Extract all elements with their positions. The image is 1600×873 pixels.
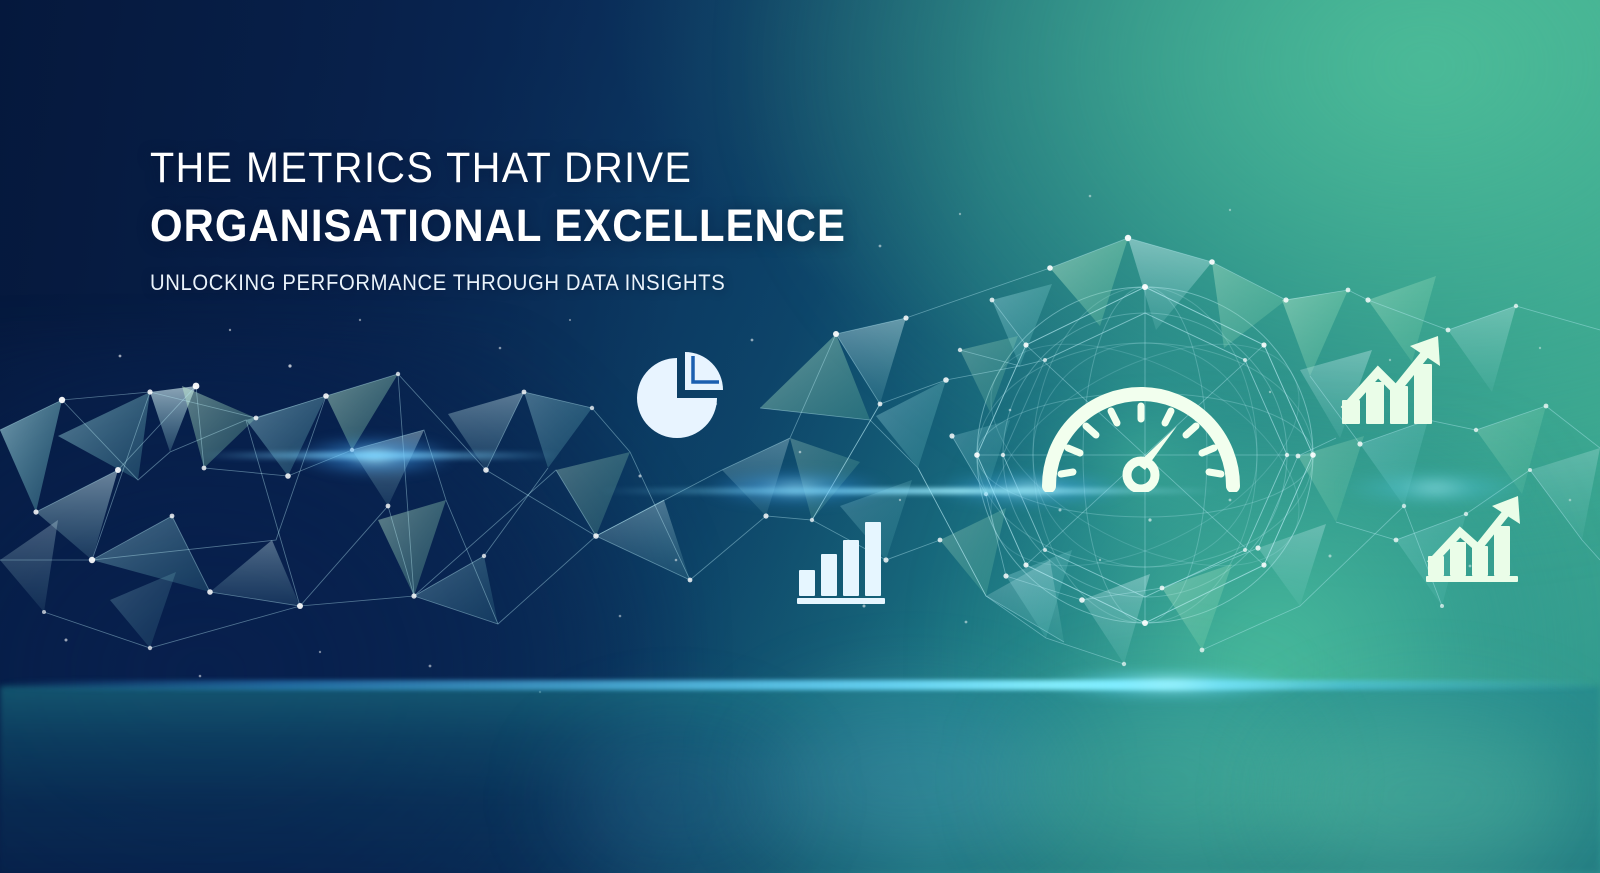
banner-root: THE METRICS THAT DRIVE ORGANISATIONAL EX…	[0, 0, 1600, 873]
horizon-hotspot	[1040, 670, 1300, 698]
floor-blob-3	[1280, 710, 1580, 873]
floor-blob-1	[760, 700, 1060, 860]
floor-blob-4	[560, 730, 790, 870]
mesh-triangles-left	[0, 374, 690, 648]
growth-chart-icon	[1424, 486, 1524, 582]
title-line-1: THE METRICS THAT DRIVE	[150, 146, 849, 191]
gauge-hub	[1127, 461, 1155, 489]
growth-chart-icon	[1338, 328, 1444, 428]
subtitle: UNLOCKING PERFORMANCE THROUGH DATA INSIG…	[150, 270, 849, 296]
title-line-2: ORGANISATIONAL EXCELLENCE	[150, 199, 857, 252]
bar-chart-icon	[795, 512, 887, 604]
gauge-icon	[1037, 382, 1245, 492]
horizon-light-streak	[0, 680, 1600, 690]
floor-blob-2	[1020, 690, 1300, 870]
headline-block: THE METRICS THAT DRIVE ORGANISATIONAL EX…	[150, 146, 910, 296]
pie-chart-icon	[630, 352, 730, 444]
